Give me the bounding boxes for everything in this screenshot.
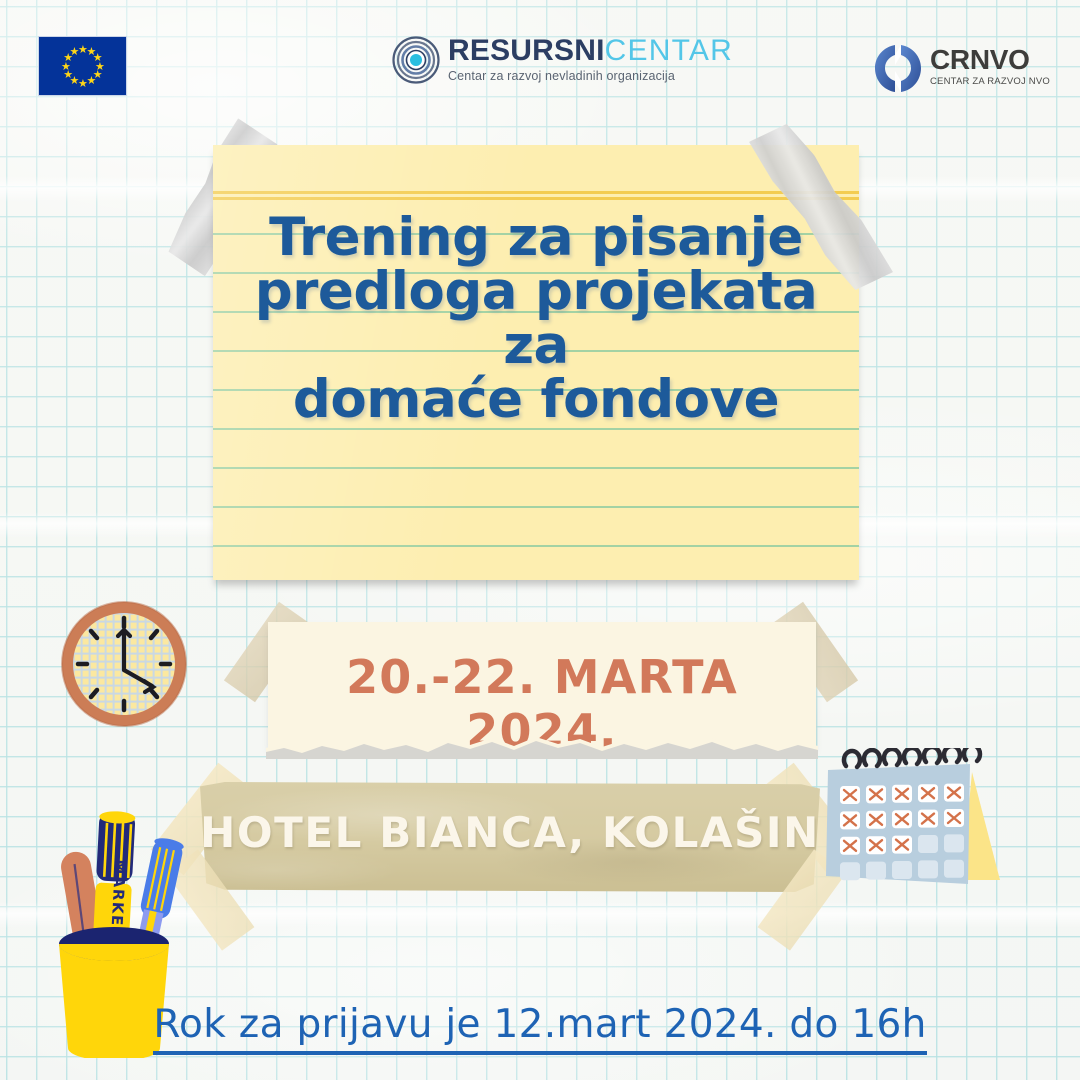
event-title: Trening za pisanje predloga projekata za… [213,211,859,427]
poster-canvas: ★★★★★★★★★★★★ RESURSNICENTAR Centar za ra… [0,0,1080,1080]
crnvo-mark-icon [874,42,922,94]
calendar-day-cell [866,862,886,880]
registration-deadline-text: Rok za prijavu je 12.mart 2024. do 16h [153,1002,926,1055]
resursni-centar-mark-icon [392,36,440,84]
logo-word-centar: CENTAR [605,34,733,67]
calendar-day-cell [892,861,912,879]
title-line-4: domaće fondove [213,373,859,427]
clock-illustration [58,598,190,730]
notepad-rule-line [213,467,859,469]
title-line-1: Trening za pisanje [213,211,859,265]
desk-calendar-illustration [822,748,1020,896]
calendar-day-cell [944,834,964,852]
resursni-centar-logo: RESURSNICENTAR Centar za razvoj nevladin… [392,34,722,96]
eu-star-icon: ★ [70,47,79,56]
event-venue-text: HOTEL BIANCA, KOLAŠIN [200,808,820,857]
date-banner: 20.-22. MARTA 2024. [268,622,816,750]
resursni-centar-tagline: Centar za razvoj nevladinih organizacija [448,69,733,83]
calendar-day-cell [840,862,860,880]
notepad-header-rule [213,191,859,194]
crnvo-name: CRNVO [930,45,1050,75]
calendar-day-cell [918,835,938,853]
notepad-header-rule [213,197,859,200]
notepad-rule-line [213,545,859,547]
resursni-centar-name: RESURSNICENTAR [448,34,733,67]
crnvo-tagline: CENTAR ZA RAZVOJ NVO [930,76,1050,87]
calendar-day-cell [944,860,964,878]
logo-header: ★★★★★★★★★★★★ RESURSNICENTAR Centar za ra… [0,0,1080,130]
notepad-rule-line [213,506,859,508]
registration-deadline: Rok za prijavu je 12.mart 2024. do 16h [0,1002,1080,1047]
eu-star-icon: ★ [78,79,87,88]
logo-word-resursni: RESURSNI [448,34,605,67]
calendar-day-cell [918,860,938,878]
title-line-2: predloga projekata [213,265,859,319]
title-notepad-card: Trening za pisanje predloga projekata za… [213,145,859,580]
torn-paper-edge [266,735,818,759]
crnvo-logo: CRNVO CENTAR ZA RAZVOJ NVO [874,42,1074,100]
title-line-3: za [213,319,859,373]
venue-banner: HOTEL BIANCA, KOLAŠIN [200,782,820,892]
european-union-flag-icon: ★★★★★★★★★★★★ [38,36,127,96]
